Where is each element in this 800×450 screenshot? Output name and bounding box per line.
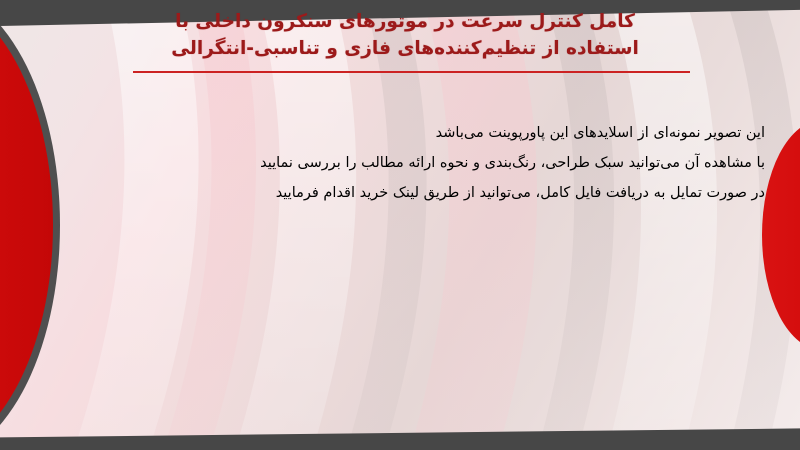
background-arc-bands	[0, 0, 800, 450]
body-line-3: در صورت تمایل به دریافت فایل کامل، می‌تو…	[45, 178, 765, 208]
slide-body-text: این تصویر نمونه‌ای از اسلایدهای این پاور…	[45, 118, 765, 208]
slide-title: کامل کنترل سرعت در موتورهای سنکرون داخلی…	[105, 8, 705, 62]
title-underline-rule	[133, 71, 690, 73]
slide-title-line-1: کامل کنترل سرعت در موتورهای سنکرون داخلی…	[105, 8, 705, 35]
slide-title-line-2: استفاده از تنظیم‌کننده‌های فازی و تناسبی…	[105, 35, 705, 62]
body-line-2: با مشاهده آن می‌توانید سبک طراحی، رنگ‌بن…	[45, 148, 765, 178]
body-line-1: این تصویر نمونه‌ای از اسلایدهای این پاور…	[45, 118, 765, 148]
presentation-slide: کامل کنترل سرعت در موتورهای سنکرون داخلی…	[0, 0, 800, 450]
